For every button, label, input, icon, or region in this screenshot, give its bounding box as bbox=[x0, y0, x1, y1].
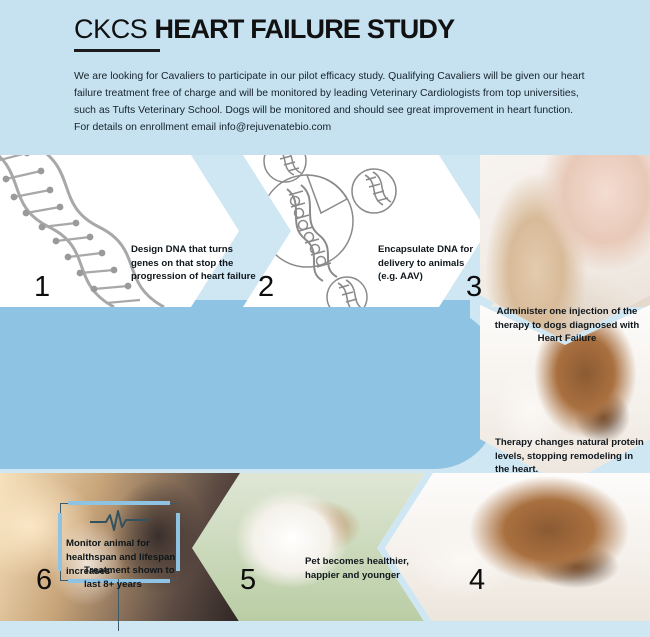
process-flow: Monitor animal for healthspan and lifesp… bbox=[0, 155, 650, 637]
title-underline bbox=[74, 49, 160, 52]
step-number-5: 5 bbox=[240, 566, 256, 595]
step-text-3: Encapsulate DNA for delivery to animals … bbox=[378, 243, 482, 284]
intro-paragraph: We are looking for Cavaliers to particip… bbox=[74, 69, 586, 136]
step-text-2: Design DNA that turns genes on that stop… bbox=[131, 243, 259, 284]
bottom-strip bbox=[0, 621, 650, 637]
page-title: CKCS HEART FAILURE STUDY bbox=[74, 14, 588, 45]
title-light: CKCS bbox=[74, 14, 155, 44]
step-text-6: Treatment shown to last 8+ years bbox=[84, 564, 188, 591]
step-number-1: 1 bbox=[34, 273, 50, 302]
middle-blue-band bbox=[0, 307, 497, 469]
dog-face-photo bbox=[385, 473, 650, 623]
infographic-page: CKCS HEART FAILURE STUDY We are looking … bbox=[0, 0, 650, 637]
step-text-5: Pet becomes healthier, happier and young… bbox=[305, 555, 415, 582]
header: CKCS HEART FAILURE STUDY We are looking … bbox=[0, 0, 650, 155]
step-number-6: 6 bbox=[36, 566, 52, 595]
ekg-heartbeat-icon bbox=[90, 509, 150, 533]
administer-text: Administer one injection of the therapy … bbox=[492, 305, 642, 346]
step-panel-4 bbox=[385, 473, 650, 623]
step-number-2: 2 bbox=[258, 273, 274, 302]
title-bold: HEART FAILURE STUDY bbox=[155, 14, 455, 44]
bracket-mask-top bbox=[68, 501, 170, 505]
dna-capsid-icon bbox=[243, 155, 487, 307]
step-number-4: 4 bbox=[469, 566, 485, 595]
bracket-mask-left bbox=[58, 513, 62, 571]
therapy-text: Therapy changes natural protein levels, … bbox=[495, 436, 645, 477]
step-panel-2 bbox=[243, 155, 487, 307]
